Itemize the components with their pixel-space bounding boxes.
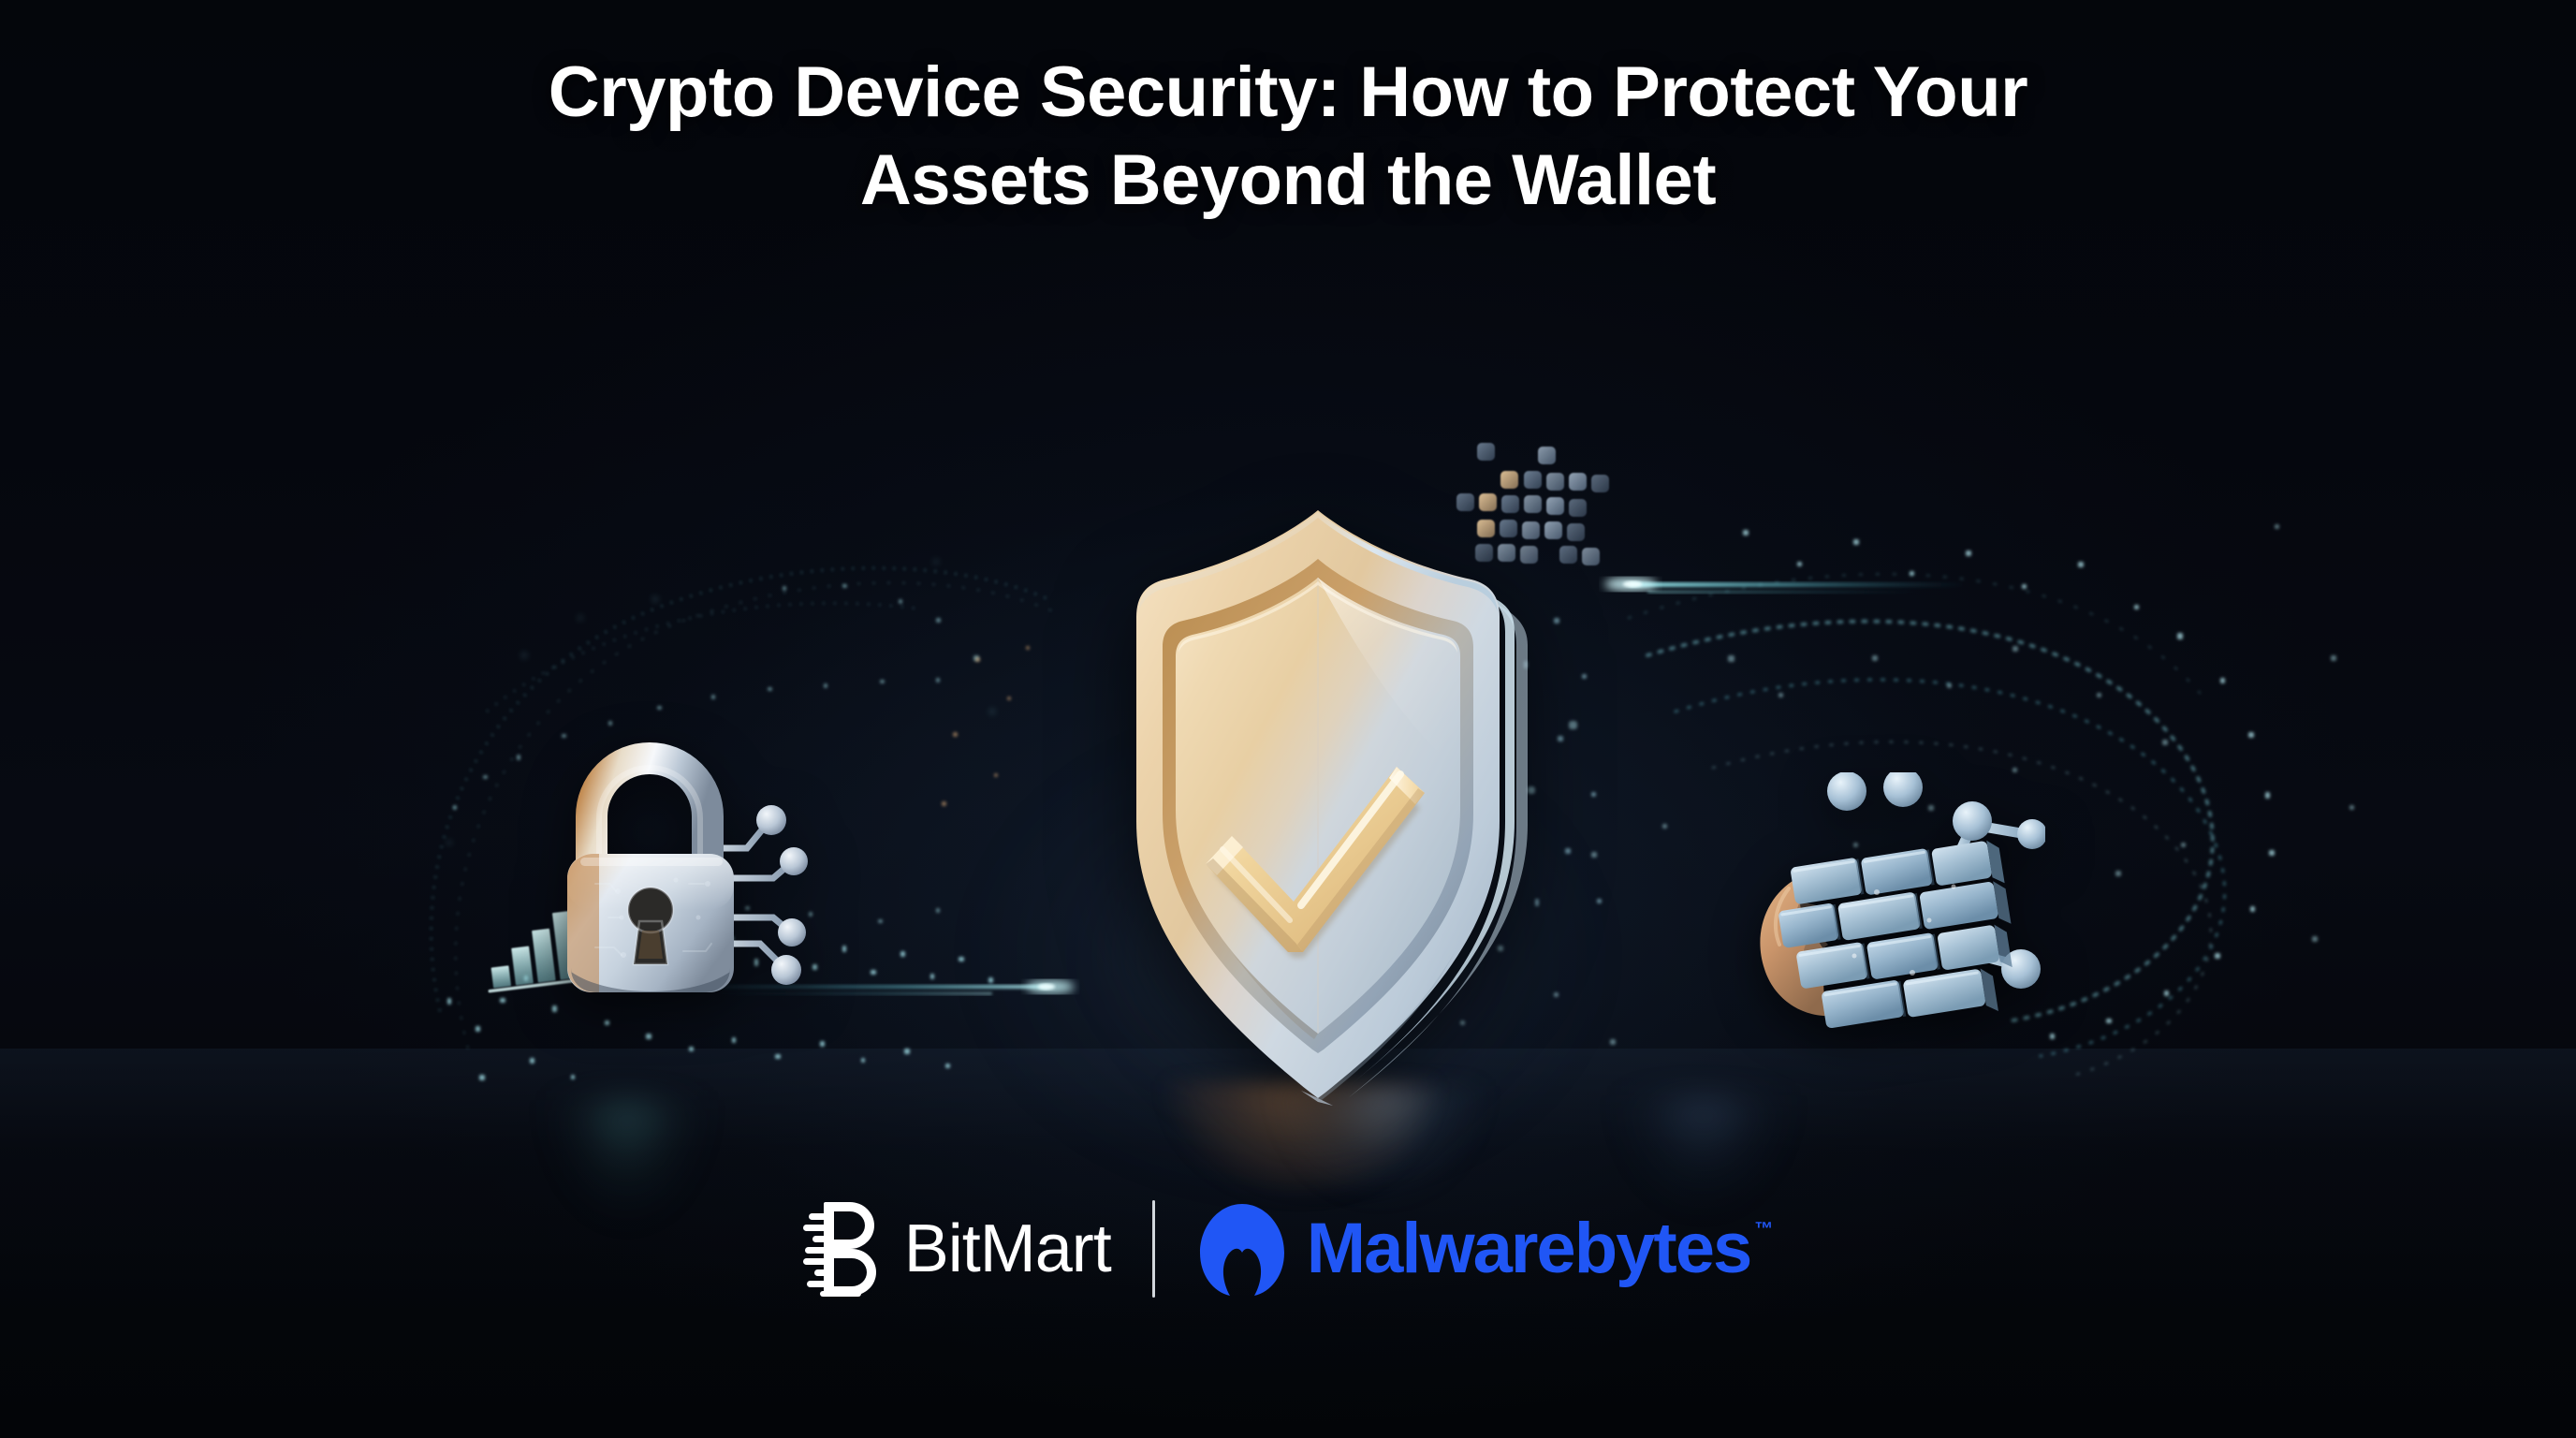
bitmart-b-icon: [803, 1200, 884, 1298]
bitmart-logo[interactable]: BitMart: [803, 1200, 1111, 1298]
shield-icon: [1067, 492, 1573, 1109]
malwarebytes-m-icon: [1196, 1200, 1288, 1298]
logo-bar: BitMart Malwarebytes ™: [0, 1200, 2576, 1298]
trademark-symbol: ™: [1754, 1219, 1773, 1240]
firewall-icon: [1736, 772, 2045, 1072]
headline-line-1: Crypto Device Security: How to Protect Y…: [0, 49, 2576, 137]
page-title: Crypto Device Security: How to Protect Y…: [0, 49, 2576, 225]
padlock-icon: [505, 730, 842, 1049]
headline-line-2: Assets Beyond the Wallet: [0, 137, 2576, 225]
malwarebytes-logo[interactable]: Malwarebytes ™: [1196, 1200, 1773, 1298]
bitmart-wordmark: BitMart: [904, 1215, 1111, 1283]
logo-divider: [1152, 1200, 1155, 1298]
banner-canvas: Crypto Device Security: How to Protect Y…: [0, 0, 2576, 1438]
malwarebytes-wordmark-wrap: Malwarebytes ™: [1307, 1213, 1773, 1284]
malwarebytes-wordmark: Malwarebytes: [1307, 1213, 1750, 1284]
